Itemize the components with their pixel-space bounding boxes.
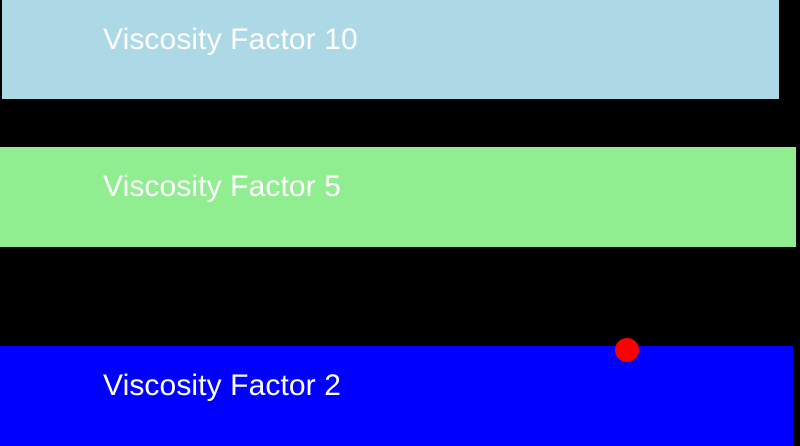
- band-label-viscosity-factor-2: Viscosity Factor 2: [103, 371, 341, 401]
- viscosity-band-canvas: Viscosity Factor 10 Viscosity Factor 5 V…: [0, 0, 800, 446]
- band-label-viscosity-factor-5: Viscosity Factor 5: [103, 172, 341, 202]
- red-dot-marker-icon[interactable]: [615, 338, 639, 362]
- band-label-viscosity-factor-10: Viscosity Factor 10: [103, 25, 358, 55]
